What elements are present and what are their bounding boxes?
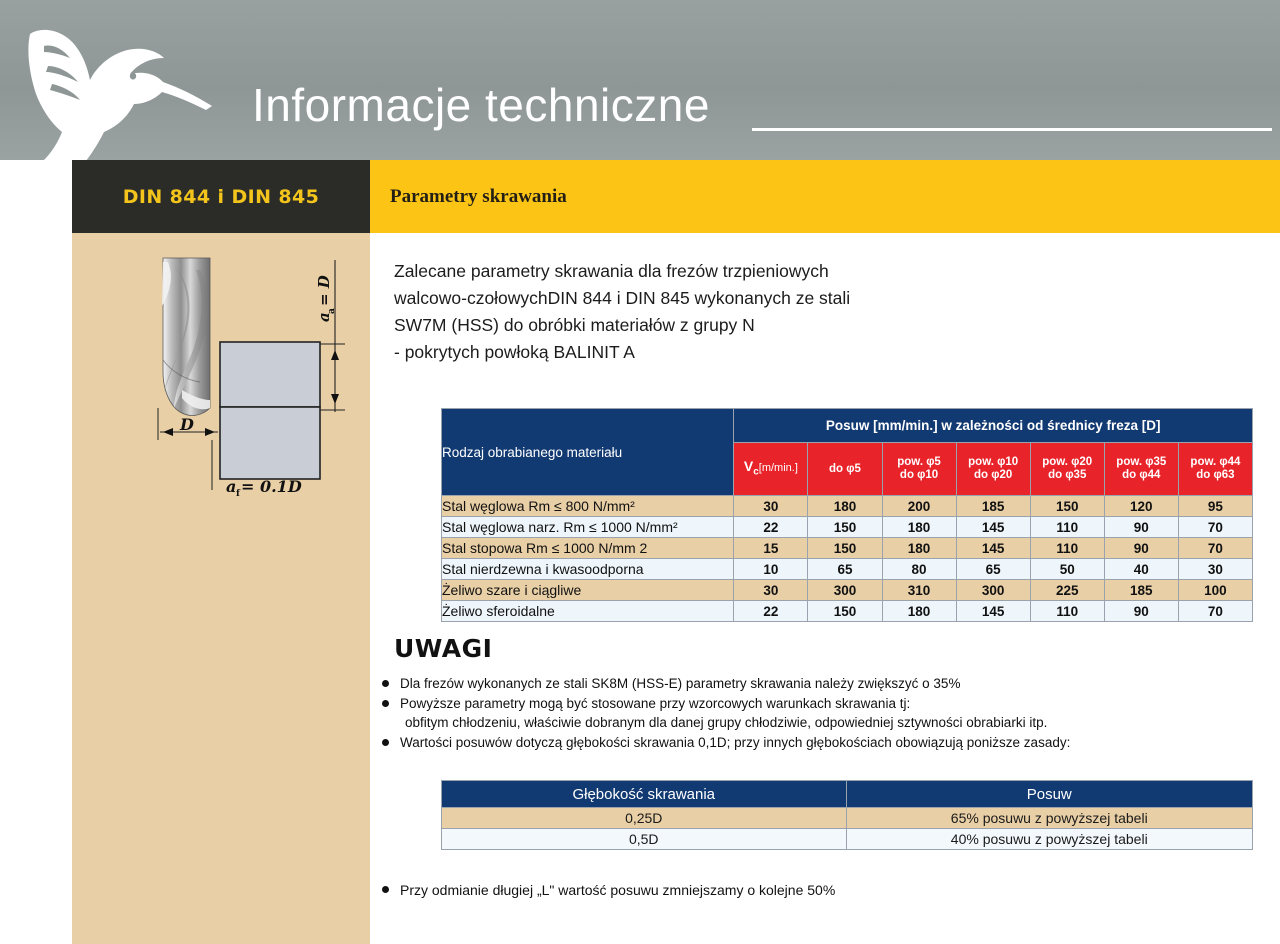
bottom-header-0: Głębokość skrawania	[442, 781, 847, 808]
row-3-v2: 65	[956, 559, 1030, 580]
row-3-v0: 65	[808, 559, 882, 580]
table-row: Stal stopowa Rm ≤ 1000 N/mm 2 15 150 180…	[442, 538, 1253, 559]
bottom-row-0-depth: 0,25D	[442, 808, 847, 829]
bullet-icon	[382, 680, 389, 687]
row-0-v2: 185	[956, 496, 1030, 517]
row-0-v1: 200	[882, 496, 956, 517]
note-final-text: Przy odmianie długiej „L" wartość posuwu…	[400, 882, 835, 898]
table-row: Stal węglowa narz. Rm ≤ 1000 N/mm² 22 15…	[442, 517, 1253, 538]
table-row: 0,25D 65% posuwu z powyższej tabeli	[442, 808, 1253, 829]
row-1-material: Stal węglowa narz. Rm ≤ 1000 N/mm²	[442, 517, 734, 538]
row-2-v2: 145	[956, 538, 1030, 559]
row-4-v5: 100	[1178, 580, 1252, 601]
table-row: Żeliwo sferoidalne 22 150 180 145 110 90…	[442, 601, 1253, 622]
notes-list: Dla frezów wykonanych ze stali SK8M (HSS…	[378, 674, 1258, 753]
tab-cutting-parameters[interactable]: Parametry skrawania	[370, 160, 1280, 233]
svg-text:= D: = D	[315, 275, 333, 306]
header-col-0: do φ5	[808, 443, 882, 496]
row-4-material: Żeliwo szare i ciągliwe	[442, 580, 734, 601]
row-4-v4: 185	[1104, 580, 1178, 601]
row-0-v4: 120	[1104, 496, 1178, 517]
tab-cutting-parameters-label: Parametry skrawania	[390, 160, 567, 233]
row-2-v5: 70	[1178, 538, 1252, 559]
header-col-1: pow. φ5 do φ10	[882, 443, 956, 496]
header-col-5: pow. φ44 do φ63	[1178, 443, 1252, 496]
header-col-2-l2: do φ20	[957, 469, 1030, 482]
note-2-text: Wartości posuwów dotyczą głębokości skra…	[400, 735, 1070, 750]
row-3-v3: 50	[1030, 559, 1104, 580]
row-1-v4: 90	[1104, 517, 1178, 538]
header-col-5-l1: pow. φ44	[1179, 456, 1252, 469]
row-1-v0: 150	[808, 517, 882, 538]
header-col-2: pow. φ10 do φ20	[956, 443, 1030, 496]
row-0-v3: 150	[1030, 496, 1104, 517]
header-vc-unit: [m/min.]	[759, 462, 798, 474]
page-title: Informacje techniczne	[252, 78, 710, 132]
row-3-vc: 10	[734, 559, 808, 580]
header-vc-symbol: V	[744, 458, 753, 474]
title-underline-rule	[752, 128, 1272, 131]
row-5-v4: 90	[1104, 601, 1178, 622]
cutting-parameters-table: Rodzaj obrabianego materiału Posuw [mm/m…	[441, 408, 1253, 622]
row-1-v1: 180	[882, 517, 956, 538]
end-mill-technical-drawing: a a = D D a f = 0.1D	[130, 240, 370, 502]
row-0-v0: 180	[808, 496, 882, 517]
header-col-0-l1: do φ5	[808, 463, 881, 476]
tab-din-standard[interactable]: DIN 844 i DIN 845	[72, 160, 370, 233]
row-2-vc: 15	[734, 538, 808, 559]
row-4-v1: 310	[882, 580, 956, 601]
intro-line-4: - pokrytych powłoką BALINIT A	[394, 339, 994, 366]
list-item: Przy odmianie długiej „L" wartość posuwu…	[378, 880, 1258, 900]
notes-final-item: Przy odmianie długiej „L" wartość posuwu…	[378, 880, 1258, 901]
list-item: Powyższe parametry mogą być stosowane pr…	[378, 694, 1258, 732]
note-0-text: Dla frezów wykonanych ze stali SK8M (HSS…	[400, 676, 960, 691]
svg-text:a: a	[327, 308, 337, 314]
row-2-v0: 150	[808, 538, 882, 559]
header-col-2-l1: pow. φ10	[957, 456, 1030, 469]
bullet-icon	[382, 739, 389, 746]
row-0-v5: 95	[1178, 496, 1252, 517]
row-1-vc: 22	[734, 517, 808, 538]
row-5-material: Żeliwo sferoidalne	[442, 601, 734, 622]
header-col-4-l1: pow. φ35	[1105, 456, 1178, 469]
section-tab-bar: DIN 844 i DIN 845 Parametry skrawania	[0, 160, 1280, 233]
list-item: Wartości posuwów dotyczą głębokości skra…	[378, 733, 1258, 752]
notes-heading: UWAGI	[394, 634, 492, 663]
bottom-header-1: Posuw	[846, 781, 1253, 808]
row-4-vc: 30	[734, 580, 808, 601]
svg-text:= 0.1D: = 0.1D	[241, 477, 302, 496]
header-col-4-l2: do φ44	[1105, 469, 1178, 482]
header-col-3-l1: pow. φ20	[1031, 456, 1104, 469]
svg-text:a: a	[226, 477, 236, 496]
table-row: Żeliwo szare i ciągliwe 30 300 310 300 2…	[442, 580, 1253, 601]
row-1-v3: 110	[1030, 517, 1104, 538]
table-row: Stal węglowa Rm ≤ 800 N/mm² 30 180 200 1…	[442, 496, 1253, 517]
row-5-v2: 145	[956, 601, 1030, 622]
row-3-material: Stal nierdzewna i kwasoodporna	[442, 559, 734, 580]
bottom-row-1-depth: 0,5D	[442, 829, 847, 850]
row-2-v3: 110	[1030, 538, 1104, 559]
intro-line-2: walcowo-czołowychDIN 844 i DIN 845 wykon…	[394, 285, 994, 312]
header-col-3: pow. φ20 do φ35	[1030, 443, 1104, 496]
row-5-v5: 70	[1178, 601, 1252, 622]
table-row: 0,5D 40% posuwu z powyższej tabeli	[442, 829, 1253, 850]
header-col-3-l2: do φ35	[1031, 469, 1104, 482]
note-1-text: Powyższe parametry mogą być stosowane pr…	[400, 696, 910, 711]
row-5-v0: 150	[808, 601, 882, 622]
row-0-vc: 30	[734, 496, 808, 517]
row-5-vc: 22	[734, 601, 808, 622]
tab-din-standard-label: DIN 844 i DIN 845	[72, 160, 370, 233]
row-2-v1: 180	[882, 538, 956, 559]
row-1-v5: 70	[1178, 517, 1252, 538]
header-col-1-l1: pow. φ5	[883, 456, 956, 469]
bullet-icon	[382, 886, 389, 893]
intro-paragraph: Zalecane parametry skrawania dla frezów …	[394, 258, 994, 366]
row-2-material: Stal stopowa Rm ≤ 1000 N/mm 2	[442, 538, 734, 559]
header-col-4: pow. φ35 do φ44	[1104, 443, 1178, 496]
list-item: Dla frezów wykonanych ze stali SK8M (HSS…	[378, 674, 1258, 693]
bullet-icon	[382, 700, 389, 707]
table-row: Stal nierdzewna i kwasoodporna 10 65 80 …	[442, 559, 1253, 580]
row-3-v4: 40	[1104, 559, 1178, 580]
row-5-v3: 110	[1030, 601, 1104, 622]
bottom-row-0-feed: 65% posuwu z powyższej tabeli	[846, 808, 1253, 829]
header-col-1-l2: do φ10	[883, 469, 956, 482]
row-2-v4: 90	[1104, 538, 1178, 559]
header-vc: Vc[m/min.]	[734, 443, 808, 496]
table-header-row-top: Rodzaj obrabianego materiału Posuw [mm/m…	[442, 409, 1253, 443]
svg-text:D: D	[179, 415, 194, 434]
row-3-v1: 80	[882, 559, 956, 580]
bottom-row-1-feed: 40% posuwu z powyższej tabeli	[846, 829, 1253, 850]
header-col-5-l2: do φ63	[1179, 469, 1252, 482]
row-4-v2: 300	[956, 580, 1030, 601]
left-margin	[0, 233, 72, 944]
header-material: Rodzaj obrabianego materiału	[442, 409, 734, 496]
row-4-v0: 300	[808, 580, 882, 601]
intro-line-3: SW7M (HSS) do obróbki materiałów z grupy…	[394, 312, 994, 339]
table-header-row: Głębokość skrawania Posuw	[442, 781, 1253, 808]
row-1-v2: 145	[956, 517, 1030, 538]
header-feed-title: Posuw [mm/min.] w zależności od średnicy…	[734, 409, 1253, 443]
intro-line-1: Zalecane parametry skrawania dla frezów …	[394, 258, 994, 285]
row-0-material: Stal węglowa Rm ≤ 800 N/mm²	[442, 496, 734, 517]
note-1-subtext: obfitym chłodzeniu, właściwie dobranym d…	[400, 713, 1258, 732]
row-3-v5: 30	[1178, 559, 1252, 580]
depth-feed-table: Głębokość skrawania Posuw 0,25D 65% posu…	[441, 780, 1253, 850]
row-5-v1: 180	[882, 601, 956, 622]
row-4-v3: 225	[1030, 580, 1104, 601]
